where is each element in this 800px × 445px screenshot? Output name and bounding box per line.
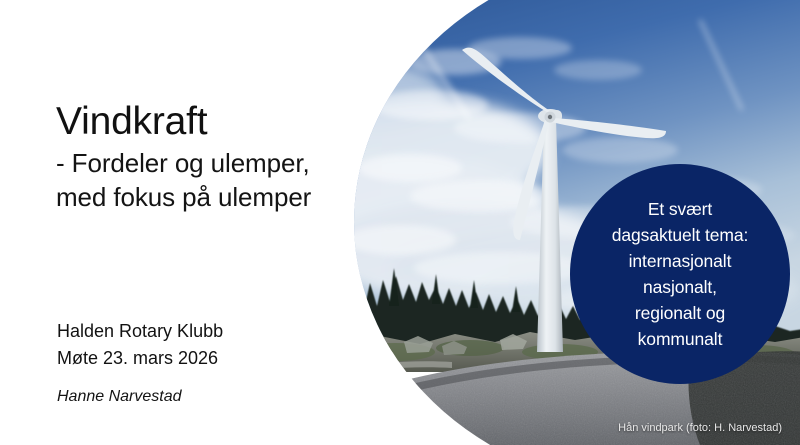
callout-text: Et svært dagsaktuelt tema: internasjonal…: [580, 196, 780, 352]
meta-block: Halden Rotary Klubb Møte 23. mars 2026 H…: [57, 318, 347, 407]
page-title: Vindkraft: [56, 99, 346, 145]
title-block: Vindkraft - Fordeler og ulemper, med fok…: [56, 99, 346, 213]
photo-caption: Hån vindpark (foto: H. Narvestad): [618, 421, 782, 435]
organization-name: Halden Rotary Klubb: [57, 318, 347, 345]
presentation-slide: Et svært dagsaktuelt tema: internasjonal…: [0, 0, 800, 445]
title-text-column: Vindkraft - Fordeler og ulemper, med fok…: [0, 0, 350, 445]
subtitle-line-1: - Fordeler og ulemper,: [56, 147, 346, 179]
author-name: Hanne Narvestad: [57, 387, 347, 407]
callout-circle: Et svært dagsaktuelt tema: internasjonal…: [570, 164, 790, 384]
subtitle-line-2: med fokus på ulemper: [56, 181, 346, 213]
meeting-date: Møte 23. mars 2026: [57, 345, 347, 372]
